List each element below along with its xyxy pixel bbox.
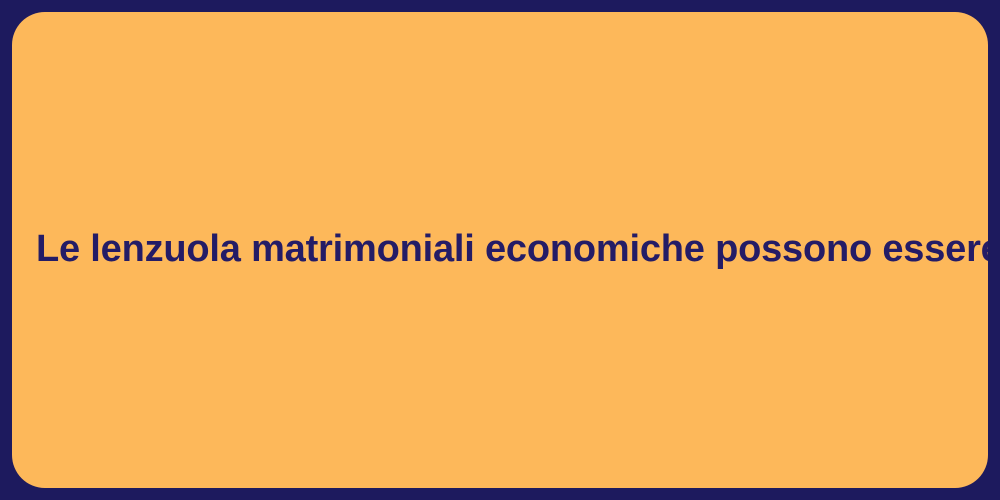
headline-text: Le lenzuola matrimoniali economiche poss…	[12, 226, 988, 274]
content-card: Le lenzuola matrimoniali economiche poss…	[12, 12, 988, 488]
outer-frame: Le lenzuola matrimoniali economiche poss…	[0, 0, 1000, 500]
